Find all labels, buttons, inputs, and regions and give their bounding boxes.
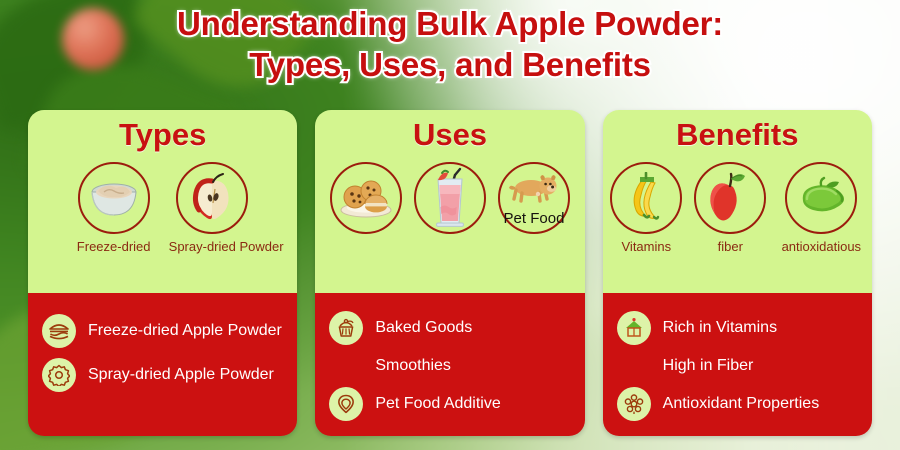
bullet-label: Freeze-dried Apple Powder [88, 322, 282, 340]
card-uses: Uses [315, 110, 584, 436]
burger-icon [42, 314, 76, 348]
card-benefits: Benefits [603, 110, 872, 436]
card-benefits-icon-row: Vitamins fiber [603, 162, 872, 254]
icon-item-vitamins: Vitamins [603, 162, 689, 254]
icon-caption-freeze-dried: Freeze-dried [71, 239, 157, 254]
dog-icon: Pet Food [498, 162, 570, 234]
green-lime-icon [785, 162, 857, 234]
card-benefits-top: Benefits [603, 110, 872, 293]
icon-item-smoothie [410, 162, 490, 239]
card-uses-top: Uses [315, 110, 584, 293]
cupcake-icon [329, 311, 363, 345]
icon-item-antioxidants: antioxidatious [771, 162, 871, 254]
card-benefits-heading: Benefits [603, 119, 872, 152]
bullet-label: Spray-dried Apple Powder [88, 366, 274, 384]
bullet-label: High in Fiber [663, 357, 754, 375]
card-types-top: Types Freeze-dried [28, 110, 297, 293]
bullet-rich-in-vitamins: Rich in Vitamins [617, 309, 872, 347]
card-types-bottom: Freeze-dried Apple Powder Spray-dried Ap… [28, 293, 297, 436]
bullet-spray-dried-apple-powder: Spray-dried Apple Powder [42, 353, 297, 397]
card-types-icon-row: Freeze-dried [28, 162, 297, 254]
cookies-plate-icon [330, 162, 402, 234]
bullet-label: Baked Goods [375, 319, 472, 337]
icon-item-baked-goods [326, 162, 406, 239]
bullet-antioxidant-properties: Antioxidant Properties [617, 385, 872, 423]
bullet-baked-goods: Baked Goods [329, 309, 584, 347]
bullet-smoothies: Smoothies [329, 347, 584, 385]
bullet-label: Antioxidant Properties [663, 395, 820, 413]
bullet-freeze-dried-apple-powder: Freeze-dried Apple Powder [42, 309, 297, 353]
icon-caption-antioxidants: antioxidatious [771, 239, 871, 254]
bullet-label: Smoothies [375, 357, 451, 375]
icon-item-spray-dried: Spray-dried Powder [169, 162, 255, 254]
smoothie-glass-icon [414, 162, 486, 234]
page-title-line-1: Understanding Bulk Apple Powder: [0, 4, 900, 45]
card-types: Types Freeze-dried [28, 110, 297, 436]
page-title: Understanding Bulk Apple Powder: Types, … [0, 4, 900, 86]
icon-caption-spray-dried: Spray-dried Powder [169, 239, 255, 254]
red-apple-icon [694, 162, 766, 234]
icon-caption-vitamins: Vitamins [603, 239, 689, 254]
icon-item-fiber: fiber [691, 162, 769, 254]
icon-item-pet-food: Pet Food [494, 162, 574, 239]
pet-food-overlay-label: Pet Food [504, 210, 565, 227]
green-basket-icon [617, 311, 651, 345]
card-uses-icon-row: Pet Food [315, 162, 584, 239]
gear-flower-icon [42, 358, 76, 392]
cards-container: Types Freeze-dried [28, 110, 872, 436]
powder-bowl-icon [78, 162, 150, 234]
bananas-icon [610, 162, 682, 234]
icon-caption-fiber: fiber [691, 239, 769, 254]
bullet-label: Rich in Vitamins [663, 319, 777, 337]
icon-item-freeze-dried: Freeze-dried [71, 162, 157, 254]
card-benefits-bottom: Rich in Vitamins High in Fiber [603, 293, 872, 436]
card-uses-heading: Uses [315, 119, 584, 152]
bullet-pet-food-additive: Pet Food Additive [329, 385, 584, 423]
page-title-line-2: Types, Uses, and Benefits [0, 45, 900, 86]
card-types-heading: Types [28, 119, 297, 152]
pin-drop-icon [329, 387, 363, 421]
molecule-flower-icon [617, 387, 651, 421]
bullet-high-in-fiber: High in Fiber [617, 347, 872, 385]
card-uses-bottom: Baked Goods Smoothies Pet Food Additive [315, 293, 584, 436]
bullet-label: Pet Food Additive [375, 395, 500, 413]
halved-apple-icon [176, 162, 248, 234]
